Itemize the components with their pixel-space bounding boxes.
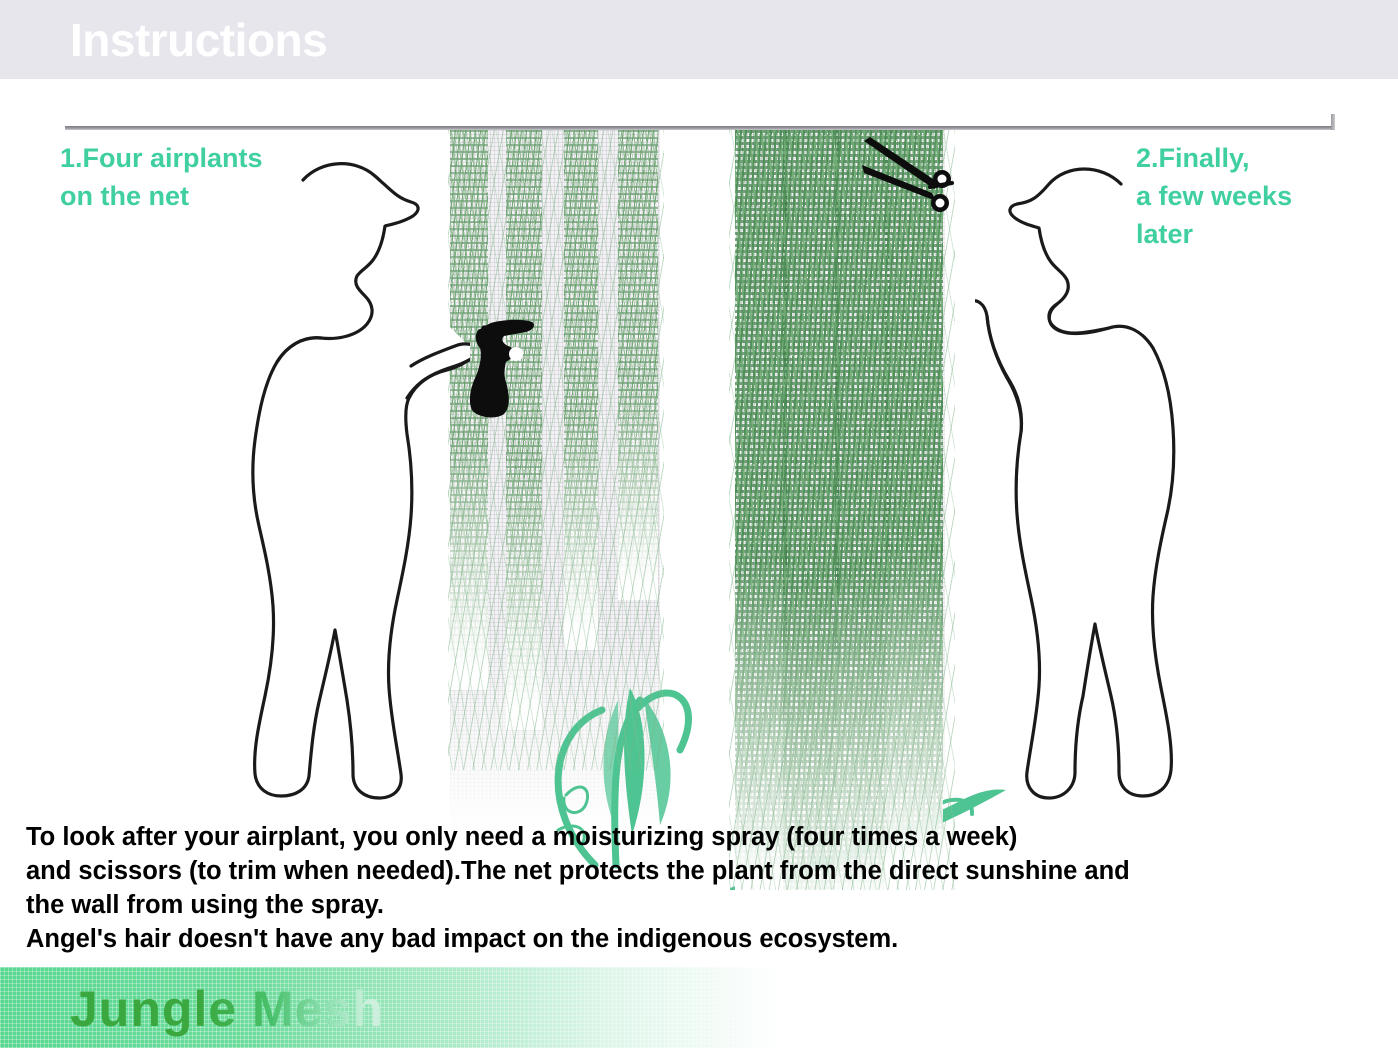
airplant-wisps: [729, 130, 955, 890]
slide-page: Instructions 1.Four airplants on the net…: [0, 0, 1398, 1048]
person-spraying-figure: [225, 140, 470, 820]
page-title: Instructions: [70, 12, 327, 68]
spray-bottle-icon: [460, 310, 540, 420]
illustration-scene: [0, 130, 1398, 890]
brand-logo: Jungle Mesh: [70, 980, 384, 1038]
airplant-strands-right: [735, 130, 947, 890]
airplant-strands-left: [448, 130, 664, 830]
airplant-wisps: [448, 130, 664, 770]
body-paragraph: To look after your airplant, you only ne…: [26, 820, 1366, 956]
person-trimming-figure: [975, 140, 1205, 820]
horizontal-rule-endcap: [1331, 114, 1335, 130]
scissors-icon: [860, 135, 970, 225]
